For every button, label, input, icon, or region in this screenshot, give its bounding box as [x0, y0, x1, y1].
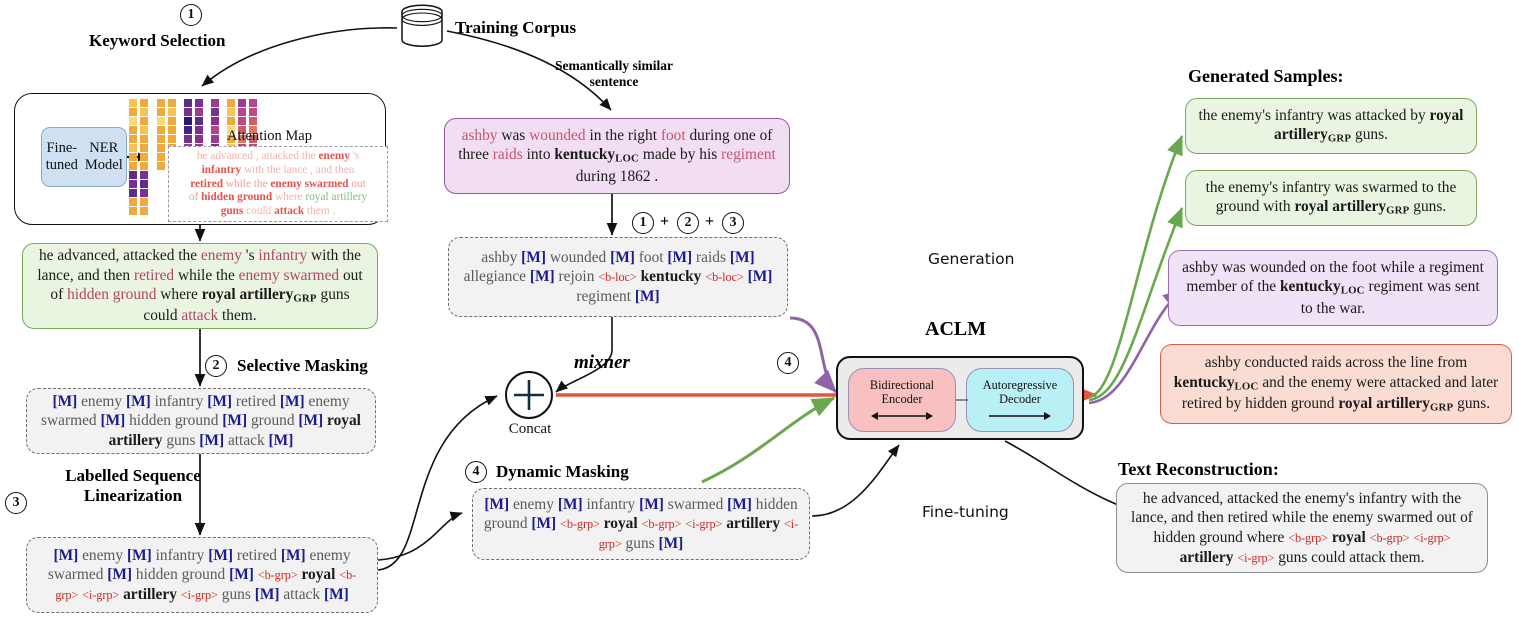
attention-map-text: he advanced , attacked the enemy 's infa… [168, 146, 388, 222]
similar-sentence-box: ashby was wounded in the right foot duri… [444, 118, 790, 194]
attention-cell [157, 162, 165, 170]
attention-cell [238, 99, 246, 107]
attention-cell [184, 99, 192, 107]
linearized-sequence-text: [M] enemy [M] infantry [M] retired [M] e… [37, 546, 367, 605]
training-corpus-icon [397, 4, 447, 48]
autoregressive-arrow-icon [989, 411, 1051, 421]
attention-cell [195, 126, 203, 134]
concat-label: Concat [500, 421, 560, 438]
selective-masking-box: [M] enemy [M] infantry [M] retired [M] e… [26, 388, 376, 454]
dynamic-masking-heading: Dynamic Masking [496, 462, 629, 482]
attention-cell [129, 153, 137, 161]
text-reconstruction-text: he advanced, attacked the enemy's infant… [1127, 489, 1477, 567]
generated-sample-3: ashby was wounded on the foot while a re… [1168, 250, 1498, 326]
attention-cell [157, 117, 165, 125]
attention-cell [140, 189, 148, 197]
attention-cell [249, 108, 257, 116]
attention-cell [140, 126, 148, 134]
decoder-label-line2: Decoder [999, 393, 1041, 407]
step-4-badge-arrow: 4 [777, 352, 799, 374]
linearized-sequence-box: [M] enemy [M] infantry [M] retired [M] e… [26, 537, 378, 613]
attention-cell [129, 198, 137, 206]
attention-cell [140, 153, 148, 161]
attention-cell [238, 108, 246, 116]
aclm-title: ACLM [925, 318, 986, 341]
similar-sentence-text: ashby was wounded in the right foot duri… [455, 126, 779, 186]
attention-cell [129, 108, 137, 116]
semantically-similar-label: Semantically similar sentence [524, 58, 704, 90]
decoder-label-line1: Autoregressive [983, 379, 1057, 393]
attention-cell [129, 162, 137, 170]
encoder-label-line1: Bidirectional [870, 379, 934, 393]
attention-cell [184, 135, 192, 143]
bidirectional-arrow-icon [871, 411, 933, 421]
generated-samples-heading: Generated Samples: [1188, 66, 1343, 87]
attention-cell [157, 144, 165, 152]
attention-cell [129, 189, 137, 197]
generated-sample-2-text: the enemy's infantry was swarmed to the … [1196, 178, 1466, 219]
attention-cell [129, 207, 137, 215]
training-corpus-label: Training Corpus [455, 18, 576, 38]
generated-sample-3-text: ashby was wounded on the foot while a re… [1179, 258, 1487, 318]
attention-cell [238, 117, 246, 125]
linearization-heading-line1: Labelled Sequence [65, 466, 201, 485]
linearization-heading: Labelled Sequence Linearization [38, 466, 228, 506]
attention-cell [184, 126, 192, 134]
attention-cell [195, 108, 203, 116]
attention-cell [211, 99, 219, 107]
semantically-similar-line1: Semantically similar [555, 58, 673, 73]
step-1-badge-combo: 1 [632, 212, 654, 234]
generated-sample-1: the enemy's infantry was attacked by roy… [1185, 98, 1477, 154]
step-2-badge-combo: 2 [677, 212, 699, 234]
attention-cell [168, 126, 176, 134]
generated-sample-1-text: the enemy's infantry was attacked by roy… [1196, 106, 1466, 147]
attention-cell [168, 135, 176, 143]
attention-cell [140, 144, 148, 152]
attention-cell [249, 99, 257, 107]
aclm-model-box: Bidirectional Encoder Autoregressive Dec… [836, 356, 1084, 440]
attention-cell [129, 171, 137, 179]
attention-cell [140, 117, 148, 125]
masked-similar-text: ashby [M] wounded [M] foot [M] raids [M]… [459, 248, 777, 307]
dynamic-masking-box: [M] enemy [M] infantry [M] swarmed [M] h… [472, 488, 810, 560]
attention-cell [140, 207, 148, 215]
attention-cell [129, 117, 137, 125]
encoder-decoder-link [956, 398, 968, 402]
generated-sample-2: the enemy's infantry was swarmed to the … [1185, 170, 1477, 226]
ner-model-block: Fine-tuned NER Model [41, 127, 127, 187]
attention-cell [140, 108, 148, 116]
step-1-badge: 1 [180, 4, 202, 26]
linearization-heading-line2: Linearization [84, 486, 182, 505]
attention-cell [140, 180, 148, 188]
attention-cell [157, 99, 165, 107]
text-reconstruction-heading: Text Reconstruction: [1118, 459, 1279, 480]
original-sentence-box: he advanced, attacked the enemy 's infan… [22, 243, 378, 329]
step-4-badge: 4 [465, 461, 487, 483]
concat-plus-icon [505, 371, 553, 419]
attention-cell [168, 99, 176, 107]
attention-cell [129, 135, 137, 143]
masked-similar-box: ashby [M] wounded [M] foot [M] raids [M]… [448, 237, 788, 317]
attention-cell [168, 117, 176, 125]
encoder-label-line2: Encoder [882, 393, 923, 407]
attention-cell [195, 99, 203, 107]
attention-cell [140, 162, 148, 170]
selective-masking-heading: Selective Masking [237, 356, 368, 376]
attention-cell [157, 126, 165, 134]
step-3-badge-combo: 3 [722, 212, 744, 234]
keyword-selection-heading: Keyword Selection [89, 31, 225, 51]
finetuning-label: Fine-tuning [922, 503, 1009, 521]
attention-cell [184, 108, 192, 116]
plus-sign-2: + [705, 213, 714, 231]
attention-cell [168, 108, 176, 116]
attention-map-label: Attention Map [227, 128, 312, 145]
generation-label: Generation [928, 250, 1014, 268]
attention-cell [129, 180, 137, 188]
attention-cell [129, 126, 137, 134]
attention-cell [157, 153, 165, 161]
attention-cell [140, 171, 148, 179]
attention-cell [211, 135, 219, 143]
mixner-label: mixner [574, 352, 630, 374]
attention-cell [227, 99, 235, 107]
attention-cell [227, 108, 235, 116]
attention-cell [227, 117, 235, 125]
attention-cell [157, 135, 165, 143]
selective-masking-text: [M] enemy [M] infantry [M] retired [M] e… [37, 392, 365, 451]
attention-cell [157, 108, 165, 116]
attention-cell [211, 117, 219, 125]
attention-cell [184, 117, 192, 125]
attention-cell [140, 99, 148, 107]
attention-cell [140, 198, 148, 206]
attention-cell [195, 117, 203, 125]
ner-model-label-line1: Fine-tuned [42, 140, 82, 173]
attention-cell [129, 99, 137, 107]
attention-cell [211, 108, 219, 116]
autoregressive-decoder-block: Autoregressive Decoder [966, 368, 1074, 432]
step-2-badge: 2 [205, 355, 227, 377]
ner-model-label-line2: NER Model [82, 140, 126, 173]
diagram-root: 1 Keyword Selection Fine-tuned NER Model… [0, 0, 1519, 620]
attention-cell [249, 117, 257, 125]
attention-cell [211, 126, 219, 134]
text-reconstruction-box: he advanced, attacked the enemy's infant… [1116, 483, 1488, 573]
attention-cell [140, 135, 148, 143]
dynamic-masking-text: [M] enemy [M] infantry [M] swarmed [M] h… [483, 495, 799, 554]
step-3-badge: 3 [5, 492, 27, 514]
attention-cell [195, 135, 203, 143]
attention-cell [129, 144, 137, 152]
semantically-similar-line2: sentence [590, 74, 639, 89]
original-sentence-text: he advanced, attacked the enemy 's infan… [33, 246, 367, 326]
generated-sample-4-text: ashby conducted raids across the line fr… [1171, 353, 1501, 415]
plus-sign-1: + [660, 213, 669, 231]
generated-sample-4: ashby conducted raids across the line fr… [1160, 344, 1512, 424]
bidirectional-encoder-block: Bidirectional Encoder [848, 368, 956, 432]
